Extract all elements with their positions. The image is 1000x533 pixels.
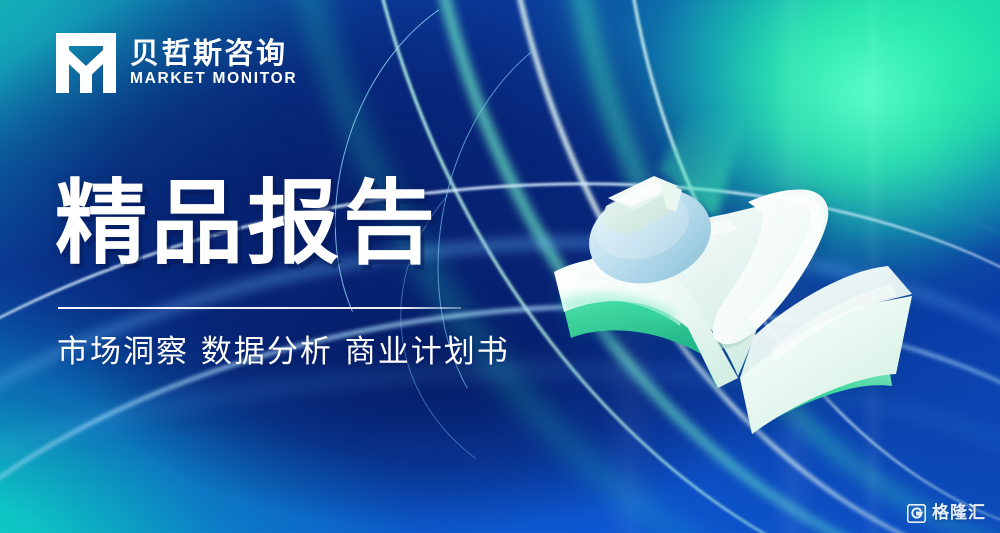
watermark-text: 格隆汇	[932, 505, 986, 522]
open-book-3d-illustration	[540, 150, 940, 440]
gelonghui-g-logo-icon	[907, 504, 926, 523]
company-name-cn: 贝哲斯咨询	[130, 39, 297, 68]
brand-logo-text: 贝哲斯咨询 MARKET MONITOR	[130, 39, 297, 87]
report-cover-banner: 贝哲斯咨询 MARKET MONITOR 精品报告 市场洞察 数据分析 商业计划…	[0, 0, 1000, 533]
subtitle-text: 市场洞察 数据分析 商业计划书	[57, 332, 510, 372]
company-name-en: MARKET MONITOR	[130, 71, 297, 87]
brand-logo: 贝哲斯咨询 MARKET MONITOR	[56, 33, 297, 93]
market-monitor-m-logo-icon	[56, 33, 116, 93]
headline-divider	[58, 307, 461, 309]
headline-title: 精品报告	[55, 174, 439, 273]
watermark: 格隆汇	[907, 504, 986, 523]
